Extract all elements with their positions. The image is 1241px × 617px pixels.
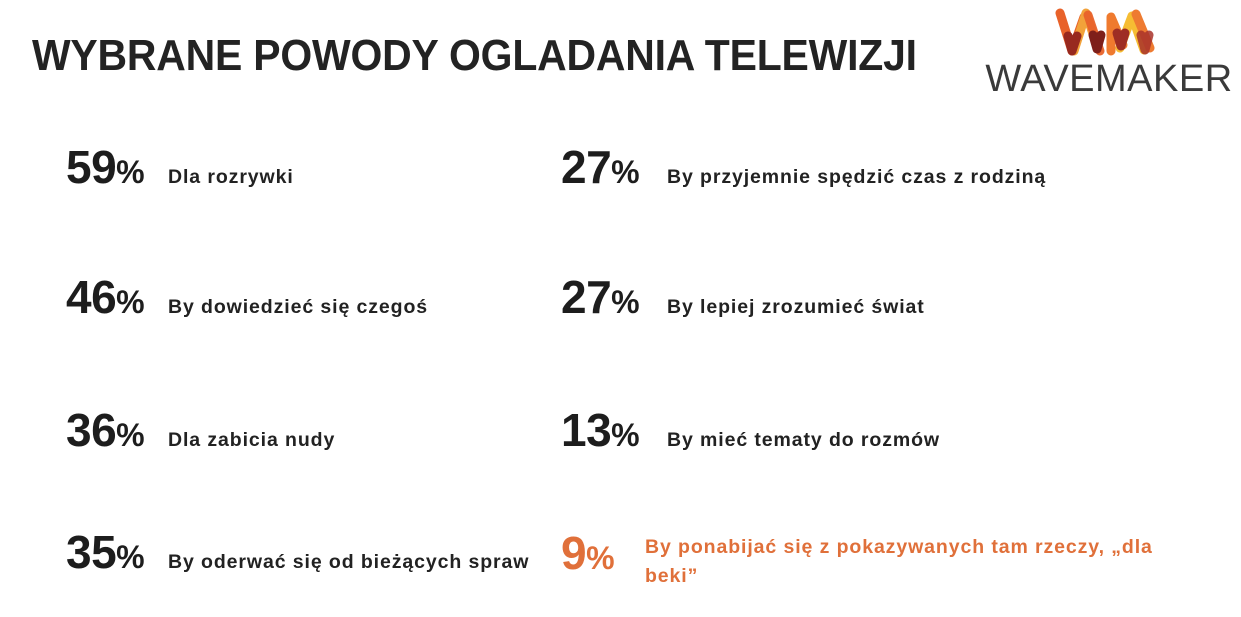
stat-row: 27% By lepiej zrozumieć świat: [561, 272, 1231, 327]
wavemaker-logo: WAVEMAKER: [983, 8, 1235, 100]
stat-label: By oderwać się od bieżących spraw: [168, 549, 529, 576]
stat-label: By lepiej zrozumieć świat: [667, 294, 925, 321]
wm-monogram-icon: [1054, 8, 1164, 56]
stat-number: 27: [561, 271, 611, 323]
stat-value: 9%: [561, 527, 639, 584]
stat-row: 36% Dla zabicia nudy: [66, 405, 566, 460]
stat-label: By przyjemnie spędzić czas z rodziną: [667, 164, 1046, 191]
stats-grid: 59% Dla rozrywki 46% By dowiedzieć się c…: [0, 126, 1241, 596]
stat-number: 27: [561, 141, 611, 193]
stat-number: 59: [66, 141, 116, 193]
stat-value: 27%: [561, 142, 661, 197]
stat-row: 59% Dla rozrywki: [66, 142, 566, 197]
stat-label: By ponabijać się z pokazywanych tam rzec…: [645, 527, 1205, 591]
stat-number: 35: [66, 526, 116, 578]
stat-row: 35% By oderwać się od bieżących spraw: [66, 527, 566, 582]
percent-sign: %: [116, 417, 144, 453]
stat-value: 35%: [66, 527, 166, 582]
percent-sign: %: [611, 284, 639, 320]
stat-label: Dla zabicia nudy: [168, 427, 335, 454]
percent-sign: %: [116, 284, 144, 320]
stat-row: 46% By dowiedzieć się czegoś: [66, 272, 566, 327]
stat-number: 46: [66, 271, 116, 323]
stat-label: Dla rozrywki: [168, 164, 294, 191]
percent-sign: %: [586, 540, 614, 576]
percent-sign: %: [611, 417, 639, 453]
stat-label: By mieć tematy do rozmów: [667, 427, 940, 454]
stat-value: 59%: [66, 142, 166, 197]
stat-value: 13%: [561, 405, 661, 460]
percent-sign: %: [116, 154, 144, 190]
page-title: WYBRANE POWODY OGLADANIA TELEWIZJI: [32, 28, 917, 84]
stat-row: 13% By mieć tematy do rozmów: [561, 405, 1231, 460]
stat-row: 27% By przyjemnie spędzić czas z rodziną: [561, 142, 1231, 197]
wavemaker-wordmark: WAVEMAKER: [983, 58, 1235, 100]
stat-row-highlighted: 9% By ponabijać się z pokazywanych tam r…: [561, 527, 1231, 591]
slide-header: WYBRANE POWODY OGLADANIA TELEWIZJI: [0, 0, 1241, 120]
stat-value: 27%: [561, 272, 661, 327]
stat-value: 46%: [66, 272, 166, 327]
slide-root: WYBRANE POWODY OGLADANIA TELEWIZJI: [0, 0, 1241, 617]
stat-number: 36: [66, 404, 116, 456]
stat-label: By dowiedzieć się czegoś: [168, 294, 428, 321]
stat-number: 9: [561, 527, 586, 579]
stat-value: 36%: [66, 405, 166, 460]
percent-sign: %: [116, 539, 144, 575]
percent-sign: %: [611, 154, 639, 190]
stat-number: 13: [561, 404, 611, 456]
